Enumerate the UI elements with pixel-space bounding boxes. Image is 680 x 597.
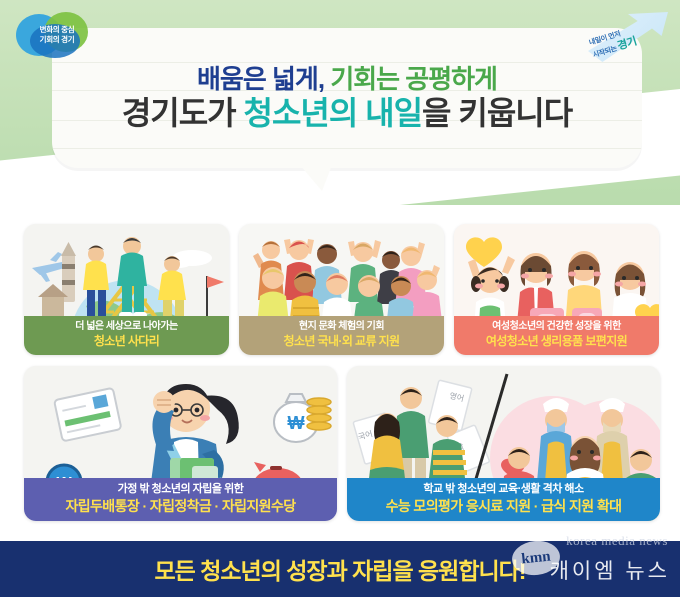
card-exchange[interactable]: 현지 문화 체험의 기회 청소년 국내·외 교류 지원 xyxy=(239,224,444,355)
headline-line-2: 경기도가 청소년의 내일을 키웁니다 xyxy=(122,96,572,131)
infographic-poster: 배움은 넓게, 기회는 공평하게 경기도가 청소년의 내일을 키웁니다 변화의 … xyxy=(0,0,680,597)
logo-line-2: 기회의 경기 xyxy=(20,35,94,45)
card-independence[interactable]: ₩ ₩ xyxy=(24,366,337,521)
card-caption-main: 청소년 사다리 xyxy=(28,334,225,349)
card-caption-main: 청소년 국내·외 교류 지원 xyxy=(243,334,440,349)
card-caption-top: 더 넓은 세상으로 나아가는 xyxy=(28,321,225,334)
card-caption-top: 여성청소년의 건강한 성장을 위한 xyxy=(458,321,655,334)
svg-text:₩: ₩ xyxy=(288,413,305,433)
gyeonggi-brand-logo: 변화의 중심 기회의 경기 xyxy=(14,12,96,58)
card-row-bottom: ₩ ₩ xyxy=(24,366,660,521)
card-row-top: 더 넓은 세상으로 나아가는 청소년 사다리 xyxy=(24,224,660,355)
logo-line-1: 변화의 중심 xyxy=(20,25,94,35)
tomorrow-arrow-logo: 내일이 먼저 시작되는 경기 xyxy=(584,10,670,66)
card-caption: 여성청소년의 건강한 성장을 위한 여성청소년 생리용품 보편지원 xyxy=(454,316,659,356)
card-youth-ladder[interactable]: 더 넓은 세상으로 나아가는 청소년 사다리 xyxy=(24,224,229,355)
headline-line-1: 배움은 넓게, 기회는 공평하게 xyxy=(197,65,497,94)
card-caption-main: 수능 모의평가 응시료 지원 · 급식 지원 확대 xyxy=(351,498,656,516)
card-caption-main: 자립두배통장 · 자립정착금 · 자립지원수당 xyxy=(28,498,333,516)
headline-block: 배움은 넓게, 기회는 공평하게 경기도가 청소년의 내일을 키웁니다 xyxy=(52,28,642,168)
headline-line2-part-c: 을 키웁니다 xyxy=(422,95,572,131)
card-sanitary[interactable]: 여성청소년의 건강한 성장을 위한 여성청소년 생리용품 보편지원 xyxy=(454,224,659,355)
headline-line2-part-b: 청소년의 내일 xyxy=(244,95,423,131)
card-caption: 현지 문화 체험의 기회 청소년 국내·외 교류 지원 xyxy=(239,316,444,356)
card-caption: 가정 밖 청소년의 자립을 위한 자립두배통장 · 자립정착금 · 자립지원수당 xyxy=(24,478,337,521)
tomorrow-logo-text: 내일이 먼저 시작되는 경기 xyxy=(588,17,671,62)
logo-text-block: 변화의 중심 기회의 경기 xyxy=(20,25,94,45)
headline-line1-part-a: 배움은 넓게, xyxy=(197,64,324,94)
footer-slogan-banner: 모든 청소년의 성장과 자립을 응원합니다! xyxy=(0,541,680,597)
card-caption-top: 현지 문화 체험의 기회 xyxy=(243,321,440,334)
card-caption-main: 여성청소년 생리용품 보편지원 xyxy=(458,334,655,349)
card-caption-top: 가정 밖 청소년의 자립을 위한 xyxy=(28,483,333,497)
headline-line2-part-a: 경기도가 xyxy=(122,95,236,131)
headline-line1-part-b: 기회는 공평하게 xyxy=(330,64,497,94)
speech-bubble-tail xyxy=(300,165,332,191)
card-school-out[interactable]: 국어 영어 수학 사회 xyxy=(347,366,660,521)
card-caption: 더 넓은 세상으로 나아가는 청소년 사다리 xyxy=(24,316,229,356)
card-caption-top: 학교 밖 청소년의 교육·생활 격차 해소 xyxy=(351,483,656,497)
card-caption: 학교 밖 청소년의 교육·생활 격차 해소 수능 모의평가 응시료 지원 · 급… xyxy=(347,478,660,521)
tomorrow-line-2-text: 시작되는 xyxy=(592,45,618,59)
footer-slogan-text: 모든 청소년의 성장과 자립을 응원합니다! xyxy=(155,552,526,586)
